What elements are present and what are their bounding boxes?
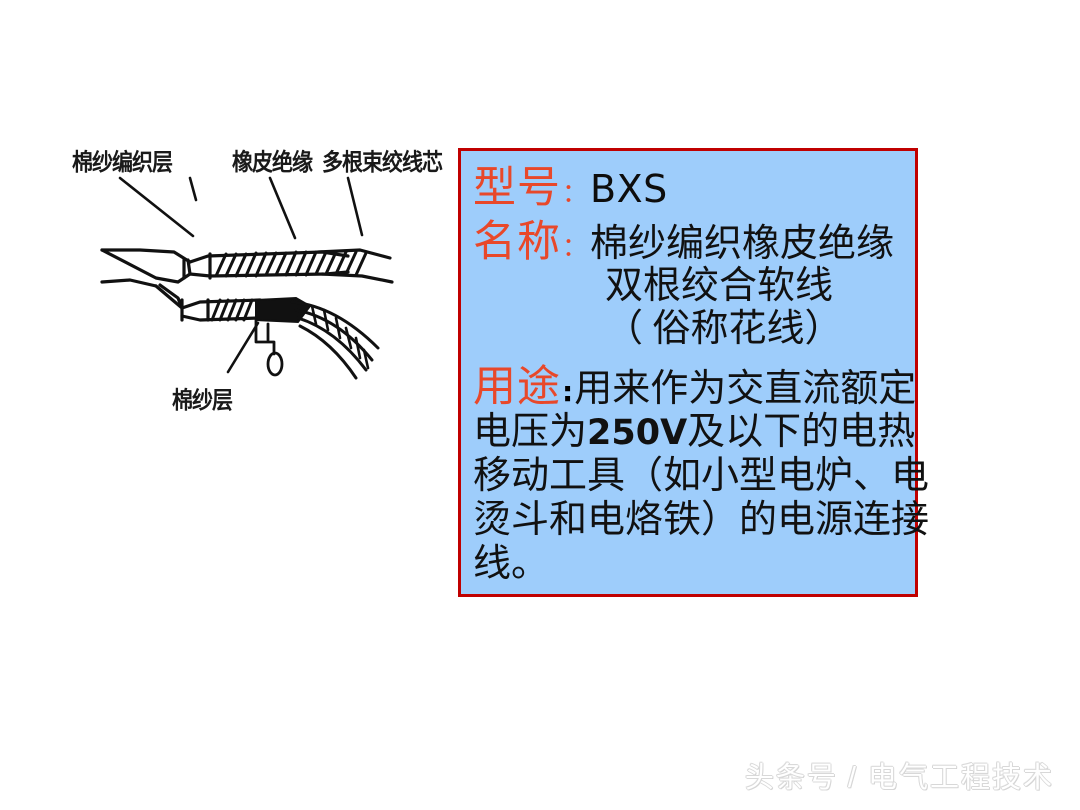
spec-value-name-line1: 棉纱编织橡皮绝缘 (590, 225, 894, 264)
spec-row-use: 用途 : 用来作为交直流额定 电压为250V及以下的电热 移动工具（如小型电炉、… (473, 366, 905, 586)
spec-value-use-line1: 用来作为交直流额定 (574, 370, 916, 409)
spec-value-use-line5: 线。 (473, 542, 905, 586)
callout-label-cores: 多根束绞线芯 (322, 144, 442, 178)
leader-line-braid (120, 178, 193, 236)
spec-colon-model: ： (561, 181, 590, 208)
spec-info-panel: 型号 ： BXS 名称 ： 棉纱编织橡皮绝缘 双根绞合软线 （ 俗称花线） 用途… (458, 148, 918, 597)
spec-value-use-line4: 烫斗和电烙铁）的电源连接 (473, 498, 905, 542)
use-voltage-value: 250V (587, 413, 687, 453)
slide-canvas: 棉纱编织层 橡皮绝缘 多根束绞线芯 棉纱层 (0, 0, 1080, 810)
spec-colon-use: : (561, 378, 574, 407)
use-line2-suffix: 及以下的电热 (687, 411, 915, 453)
spec-row-name: 名称 ： 棉纱编织橡皮绝缘 双根绞合软线 （ 俗称花线） (473, 221, 905, 352)
spec-value-use-line2: 电压为250V及以下的电热 (473, 410, 905, 454)
use-line2-prefix: 电压为 (473, 411, 587, 453)
callout-label-cotton: 棉纱层 (172, 382, 232, 416)
callout-label-rubber: 橡皮绝缘 (232, 144, 312, 178)
spec-key-name: 名称 (473, 221, 561, 265)
spec-value-model: BXS (590, 170, 668, 209)
spec-key-model: 型号 (473, 167, 561, 211)
spec-value-name-line3: （ 俗称花线） (473, 308, 905, 352)
spec-value-use-line3: 移动工具（如小型电炉、电 (473, 454, 905, 498)
cable-cutaway-drawing (60, 140, 405, 425)
cable-cutaway-illustration: 棉纱编织层 橡皮绝缘 多根束绞线芯 棉纱层 (60, 140, 405, 425)
spec-value-name-line2: 双根绞合软线 (473, 265, 905, 309)
spec-key-use: 用途 (473, 366, 561, 410)
spec-colon-name: ： (561, 235, 590, 262)
watermark-text: 头条号 / 电气工程技术 (745, 754, 1054, 796)
spec-row-model: 型号 ： BXS (473, 167, 905, 211)
callout-label-braid: 棉纱编织层 (72, 144, 172, 178)
